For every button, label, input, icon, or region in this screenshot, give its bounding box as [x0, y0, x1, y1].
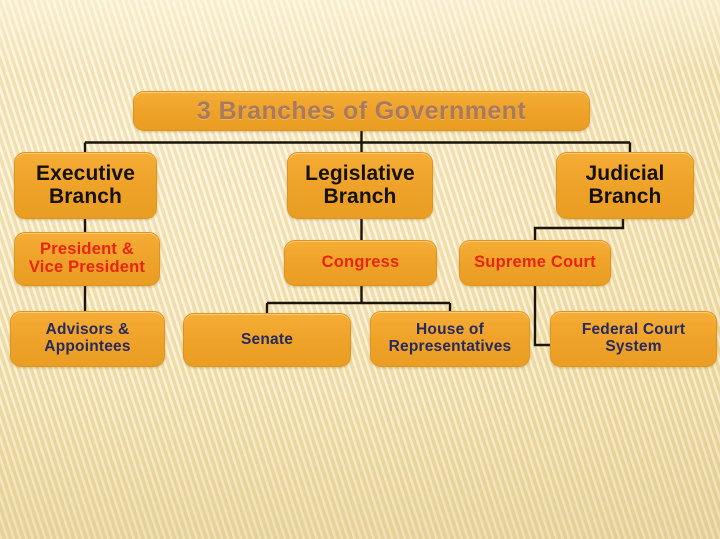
potus-label-line1: President &: [21, 241, 153, 259]
legislative-label-line1: Legislative: [294, 163, 426, 186]
node-root-title: 3 Branches of Government: [133, 91, 590, 131]
federal-label-line2: System: [557, 339, 710, 356]
scotus-label: Supreme Court: [466, 254, 604, 272]
node-house-of-representatives: House of Representatives: [370, 311, 530, 367]
executive-label-line2: Branch: [21, 186, 150, 209]
node-federal-court-system: Federal Court System: [550, 311, 717, 367]
congress-label: Congress: [291, 254, 430, 272]
node-advisors-appointees: Advisors & Appointees: [10, 311, 165, 367]
senate-label: Senate: [190, 332, 344, 349]
node-legislative-branch: Legislative Branch: [287, 152, 433, 219]
house-label-line1: House of: [377, 322, 523, 339]
federal-label-line1: Federal Court: [557, 322, 710, 339]
house-label-line2: Representatives: [377, 339, 523, 356]
judicial-label-line1: Judicial: [563, 163, 687, 186]
advisors-label-line1: Advisors &: [17, 322, 158, 339]
executive-label-line1: Executive: [21, 163, 150, 186]
node-president-vice-president: President & Vice President: [14, 232, 160, 286]
root-label: 3 Branches of Government: [140, 98, 583, 125]
edge-judicial-scotus: [535, 219, 623, 240]
node-executive-branch: Executive Branch: [14, 152, 157, 219]
judicial-label-line2: Branch: [563, 186, 687, 209]
node-judicial-branch: Judicial Branch: [556, 152, 694, 219]
slide-canvas: 3 Branches of Government Executive Branc…: [0, 0, 720, 539]
node-congress: Congress: [284, 240, 437, 286]
potus-label-line2: Vice President: [21, 259, 153, 277]
legislative-label-line2: Branch: [294, 186, 426, 209]
edge-scotus-federal: [535, 286, 550, 345]
node-senate: Senate: [183, 313, 351, 367]
node-supreme-court: Supreme Court: [459, 240, 611, 286]
advisors-label-line2: Appointees: [17, 339, 158, 356]
